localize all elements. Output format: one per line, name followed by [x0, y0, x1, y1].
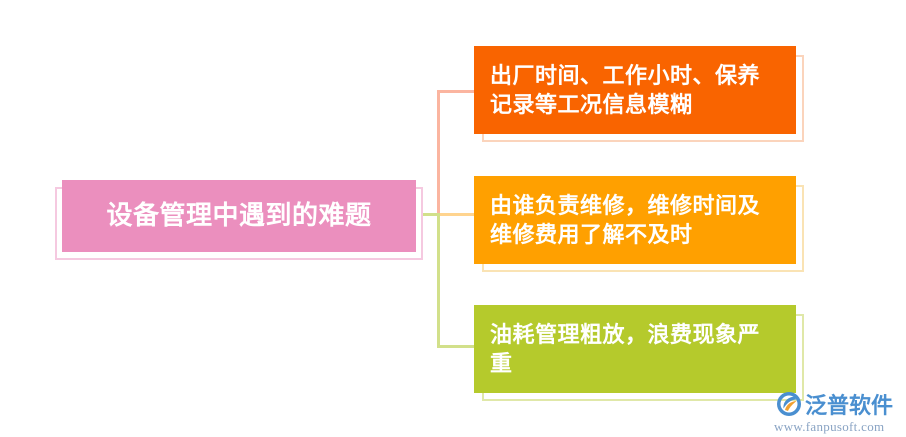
root-node-label: 设备管理中遇到的难题: [106, 200, 371, 231]
watermark-logo-row: 泛普软件: [774, 390, 902, 418]
root-node[interactable]: 设备管理中遇到的难题: [62, 180, 416, 252]
connector-branch-3-vertical: [437, 213, 440, 348]
branch-1-label: 出厂时间、工作小时、保养记录等工况信息模糊: [490, 61, 780, 119]
connector-branch-3-horizontal: [437, 345, 477, 348]
watermark-brand-name: 泛普软件: [805, 388, 893, 420]
fanpu-swoosh-logo-icon: [774, 390, 804, 418]
branch-node-3[interactable]: 油耗管理粗放，浪费现象严重: [474, 305, 796, 393]
watermark-logo: 泛普软件 www.fanpusoft.com: [774, 390, 902, 434]
diagram-canvas: 设备管理中遇到的难题 出厂时间、工作小时、保养记录等工况信息模糊 由谁负责维修，…: [0, 0, 906, 437]
branch-node-1[interactable]: 出厂时间、工作小时、保养记录等工况信息模糊: [474, 46, 796, 134]
branch-node-2[interactable]: 由谁负责维修，维修时间及维修费用了解不及时: [474, 176, 796, 264]
branch-3-label: 油耗管理粗放，浪费现象严重: [490, 320, 780, 378]
watermark-url: www.fanpusoft.com: [774, 419, 902, 435]
connector-branch-1-vertical: [437, 90, 440, 213]
connector-branch-2-horizontal: [437, 213, 477, 216]
connector-branch-1-horizontal: [437, 90, 477, 93]
branch-2-label: 由谁负责维修，维修时间及维修费用了解不及时: [490, 191, 780, 249]
